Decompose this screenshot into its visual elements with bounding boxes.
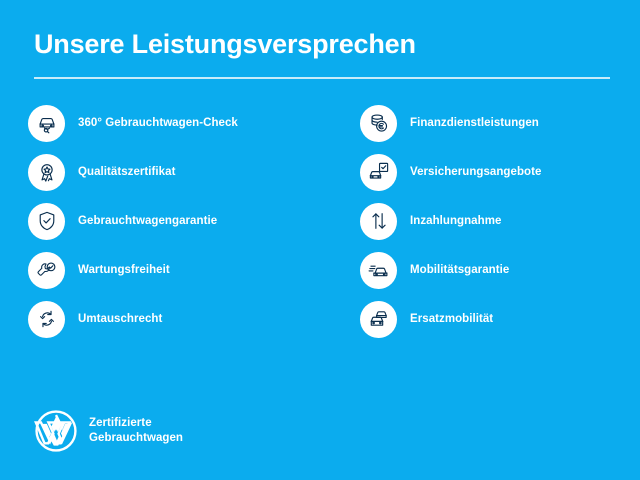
shield-check-icon <box>28 203 65 240</box>
brand-text: Zertifizierte Gebrauchtwagen <box>89 416 183 446</box>
car-inspection-icon <box>28 105 65 142</box>
feature-item-mobilitaetsgarantie[interactable]: Mobilitätsgarantie <box>360 246 640 295</box>
vw-logo <box>34 409 78 453</box>
car-motion-icon <box>360 252 397 289</box>
feature-label: 360° Gebrauchtwagen-Check <box>78 117 238 129</box>
panel-header: Unsere Leistungsversprechen <box>0 0 640 79</box>
features-right-column: Finanzdienstleistungen Versicherungsange… <box>330 99 640 344</box>
feature-label: Ersatzmobilität <box>410 313 493 325</box>
two-cars-icon <box>360 301 397 338</box>
feature-item-inzahlungnahme[interactable]: Inzahlungnahme <box>360 197 640 246</box>
header-divider <box>34 77 610 79</box>
feature-item-finanzdienstleistungen[interactable]: Finanzdienstleistungen <box>360 99 640 148</box>
feature-label: Umtauschrecht <box>78 313 162 325</box>
brand-line-1: Zertifizierte <box>89 416 183 431</box>
coins-euro-icon <box>360 105 397 142</box>
award-ribbon-icon <box>28 154 65 191</box>
brand-footer: Zertifizierte Gebrauchtwagen <box>34 409 183 453</box>
promise-panel: Unsere Leistungsversprechen <box>0 0 640 480</box>
feature-label: Mobilitätsgarantie <box>410 264 509 276</box>
feature-item-gebrauchtwagen-check[interactable]: 360° Gebrauchtwagen-Check <box>28 99 330 148</box>
features-grid: 360° Gebrauchtwagen-Check Qualitätszerti… <box>0 79 640 344</box>
page-title: Unsere Leistungsversprechen <box>34 30 608 60</box>
feature-label: Gebrauchtwagengarantie <box>78 215 217 227</box>
feature-item-ersatzmobilitaet[interactable]: Ersatzmobilität <box>360 295 640 344</box>
feature-label: Finanzdienstleistungen <box>410 117 539 129</box>
features-left-column: 360° Gebrauchtwagen-Check Qualitätszerti… <box>0 99 330 344</box>
feature-label: Versicherungsangebote <box>410 166 541 178</box>
wrench-check-icon <box>28 252 65 289</box>
feature-item-qualitaetszertifikat[interactable]: Qualitätszertifikat <box>28 148 330 197</box>
feature-item-wartungsfreiheit[interactable]: Wartungsfreiheit <box>28 246 330 295</box>
feature-label: Qualitätszertifikat <box>78 166 175 178</box>
brand-line-2: Gebrauchtwagen <box>89 431 183 446</box>
exchange-arrows-icon <box>28 301 65 338</box>
car-document-icon <box>360 154 397 191</box>
feature-label: Wartungsfreiheit <box>78 264 170 276</box>
feature-item-versicherungsangebote[interactable]: Versicherungsangebote <box>360 148 640 197</box>
feature-label: Inzahlungnahme <box>410 215 501 227</box>
feature-item-gebrauchtwagengarantie[interactable]: Gebrauchtwagengarantie <box>28 197 330 246</box>
feature-item-umtauschrecht[interactable]: Umtauschrecht <box>28 295 330 344</box>
up-down-arrows-icon <box>360 203 397 240</box>
